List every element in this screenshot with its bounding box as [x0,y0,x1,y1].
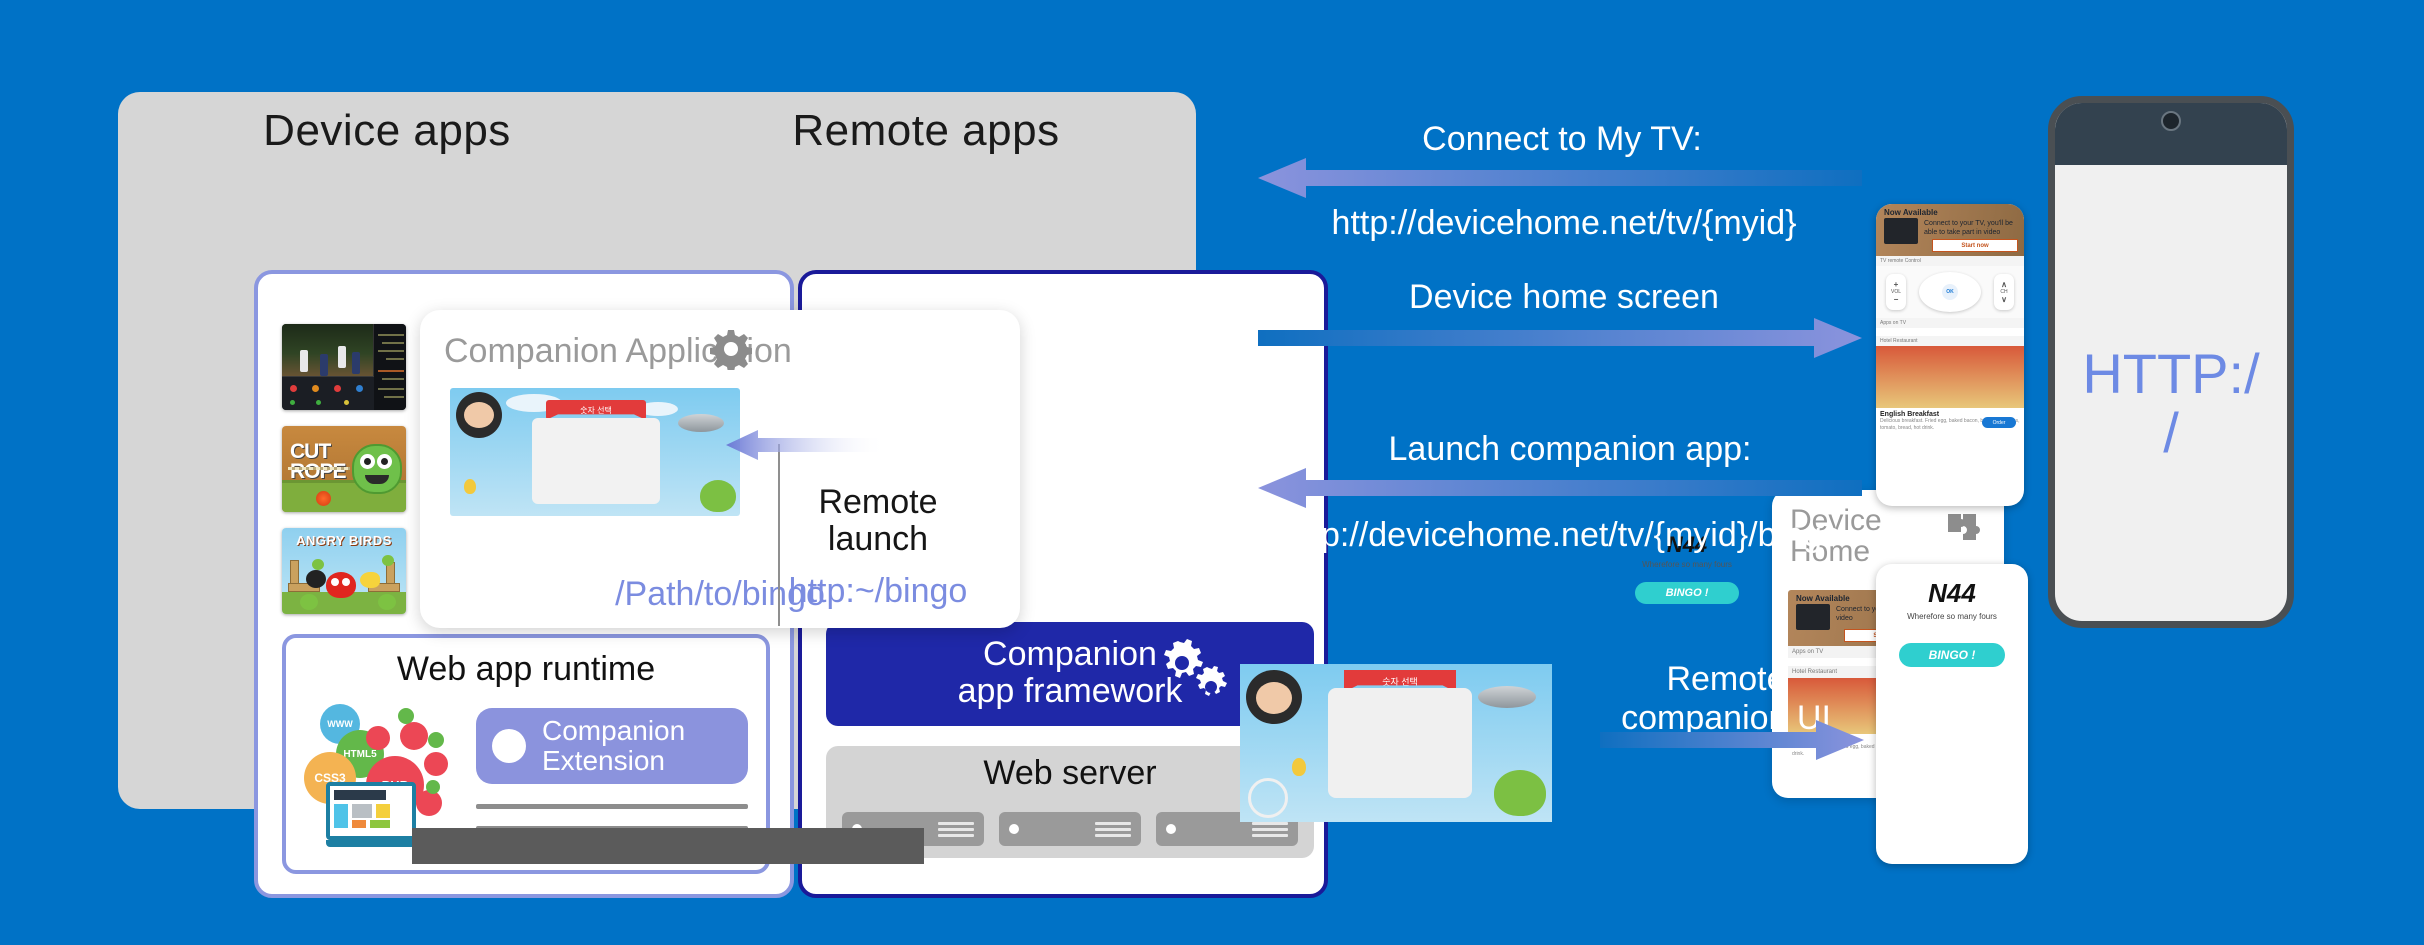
remote-launch-url: http:~/bingo [758,572,998,611]
game-number-grid [532,418,660,504]
browser-phone: HTTP:/ / [2048,96,2294,628]
toggle-knob-icon [492,729,526,763]
web-tech-bubbles: WWW HTML5 CSS3 PHP [304,704,454,844]
phone-section-apps-label: Apps on TV [1876,318,2024,328]
browser-url-text: HTTP:/ / [2082,345,2259,463]
browser-url-line1: HTTP:/ [2082,342,2259,405]
flow-arrow-connect-to-my-tv [1258,158,1862,198]
bubble-small-green-1 [398,708,414,724]
web-app-runtime-title: Web app runtime [286,650,766,689]
ok-button[interactable]: OK [1942,284,1958,300]
runtime-divider-1 [476,804,748,809]
ufo-icon [678,414,724,432]
phone-start-now-button[interactable]: Start now [1932,239,2018,252]
monkey-character-icon [1246,670,1302,724]
volume-button[interactable]: +VOL− [1886,274,1906,310]
phone-banner-title: Now Available [1884,208,1938,217]
n44-title: N44 [1886,578,2018,609]
companion-extension-label: Companion Extension [542,716,685,776]
balloon-icon [464,479,476,494]
phone-tv-icon [1884,218,1918,244]
balloon-icon [1292,758,1306,776]
device-home-phone: Now Available Connect to your TV, you'll… [1876,204,2024,506]
gear-icon [710,328,752,375]
cut-the-rope-thumbnail[interactable]: CUTROPE [282,426,406,512]
companion-extension-chip[interactable]: Companion Extension [476,708,748,784]
rack-led-icon [1009,824,1019,834]
companion-app-screenshot: 숫자 선택 [450,388,740,516]
browser-window-dots [2067,137,2124,150]
channel-button[interactable]: ∧CH∨ [1994,274,2014,310]
flow-label-connect-to-my-tv: Connect to My TV: [1352,120,1772,159]
panel-title-remote-apps: Remote apps [656,106,1196,156]
companion-extension-line2: Extension [542,745,665,776]
bubble-small-green-3 [426,780,440,794]
bubble-wordpress [400,722,428,750]
puzzle-piece-icon [1946,512,1986,555]
gears-icon [1152,638,1238,715]
remote-launch-label: Remote launch [778,484,978,557]
n44-card: N44 Wherefore so many fours BINGO ! [1876,564,2028,667]
dot-yellow-icon [2089,137,2102,150]
server-rack [999,812,1141,846]
flow-arrow-device-home-screen [1258,318,1862,358]
diagram-canvas: Device apps Remote apps [0,0,2424,945]
phone-tv-remote-control[interactable]: +VOL− OK ∧CH∨ [1876,266,2024,318]
n44-subtitle: Wherefore so many fours [1886,612,2018,621]
phone-apps-grid [1876,328,2024,336]
flow-label-device-home-screen: Device home screen [1310,278,1818,317]
ferris-wheel-icon [1248,778,1288,818]
rack-led-icon [1166,824,1176,834]
bubble-magento [416,790,442,816]
tv-stand [412,828,924,864]
game-number-grid[interactable] [1328,688,1472,798]
panel-title-device-apps: Device apps [118,106,656,156]
phone-banner-text: Connect to your TV, you'll be able to ta… [1924,220,2024,238]
rack-vent-icon [1252,822,1288,840]
rack-vent-icon [938,822,974,840]
n44-bingo-button[interactable]: BINGO ! [1899,643,2005,667]
companion-ui-phone: N44 Wherefore so many fours BINGO ! [1876,564,2028,864]
caf-line1: Companion [983,635,1157,673]
dh-banner-title: Now Available [1796,594,1850,603]
phone-section-remote-label: TV remote Control [1876,256,2024,266]
monkey-character-icon [456,392,502,438]
remote-launch-arrow-icon [726,428,886,462]
n44-mini-subtitle: Wherefore so many fours [1612,560,1762,569]
ufo-icon [1478,686,1536,708]
n44-mini-bingo-button[interactable]: BINGO ! [1635,582,1739,604]
game-banner: 숫자 선택 [546,400,646,420]
flow-arrow-launch-companion-app [1258,468,1862,508]
phone-order-button[interactable]: Order [1982,417,2016,428]
phone-section-restaurant-label: Hotel Restaurant [1876,336,2024,346]
bird-character-icon [1494,770,1546,816]
dot-green-icon [2111,137,2124,150]
bubble-joomla [366,726,390,750]
laptop-icon [326,782,416,844]
phone-dh-banner: Now Available Connect to your TV, you'll… [1876,204,2024,256]
flow-url-launch-companion-app: http://devicehome.net/tv/{myid}/bingo [1248,516,1876,555]
tv-device-shell: Device apps Remote apps [118,92,1196,809]
browser-top-bar [2055,103,2287,165]
bingo-game-screenshot: 숫자 선택 [1240,664,1552,822]
flow-url-connect-to-my-tv: http://devicehome.net/tv/{myid} [1290,204,1838,243]
bubble-drupal [424,752,448,776]
bubble-small-green-2 [428,732,444,748]
flow-label-launch-companion-app: Launch companion app: [1320,430,1820,469]
phone-food-info: English Breakfast Delicious breakfast. F… [1876,408,2024,434]
bird-character-icon [700,480,736,512]
angry-birds-thumbnail[interactable]: ANGRY BIRDS [282,528,406,614]
companion-extension-line1: Companion [542,715,685,746]
remote-launch-line2: launch [828,520,928,558]
baseball-app-thumbnail[interactable] [282,324,406,410]
remote-launch-line1: Remote [818,483,937,521]
browser-url-line2: / [2163,401,2179,464]
caf-line2: app framework [958,672,1183,710]
dh-tv-icon [1796,604,1830,630]
camera-icon [2161,111,2181,131]
flow-arrow-remote-companion-ui [1600,720,1864,760]
browser-screen: HTTP:/ / [2055,165,2287,628]
rack-vent-icon [1095,822,1131,840]
remote-companion-ui-line1: Remote [1666,660,1785,698]
dot-red-icon [2067,137,2080,150]
phone-food-photo [1876,346,2024,408]
